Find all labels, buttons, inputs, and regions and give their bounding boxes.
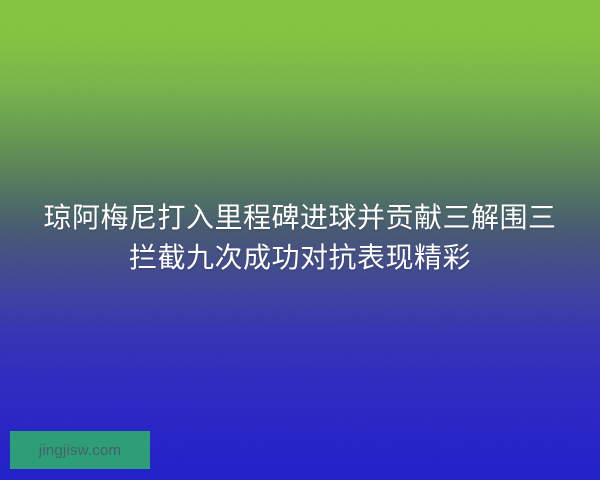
headline-line-2: 拦截九次成功对抗表现精彩 bbox=[16, 238, 584, 278]
watermark-badge: jingjisw.com bbox=[10, 431, 150, 469]
headline-line-1: 琼阿梅尼打入里程碑进球并贡献三解围三 bbox=[16, 198, 584, 238]
page-title: 琼阿梅尼打入里程碑进球并贡献三解围三 拦截九次成功对抗表现精彩 bbox=[0, 198, 600, 278]
title-card: 琼阿梅尼打入里程碑进球并贡献三解围三 拦截九次成功对抗表现精彩 jingjisw… bbox=[0, 0, 600, 480]
watermark-site-label: jingjisw.com bbox=[39, 442, 121, 459]
